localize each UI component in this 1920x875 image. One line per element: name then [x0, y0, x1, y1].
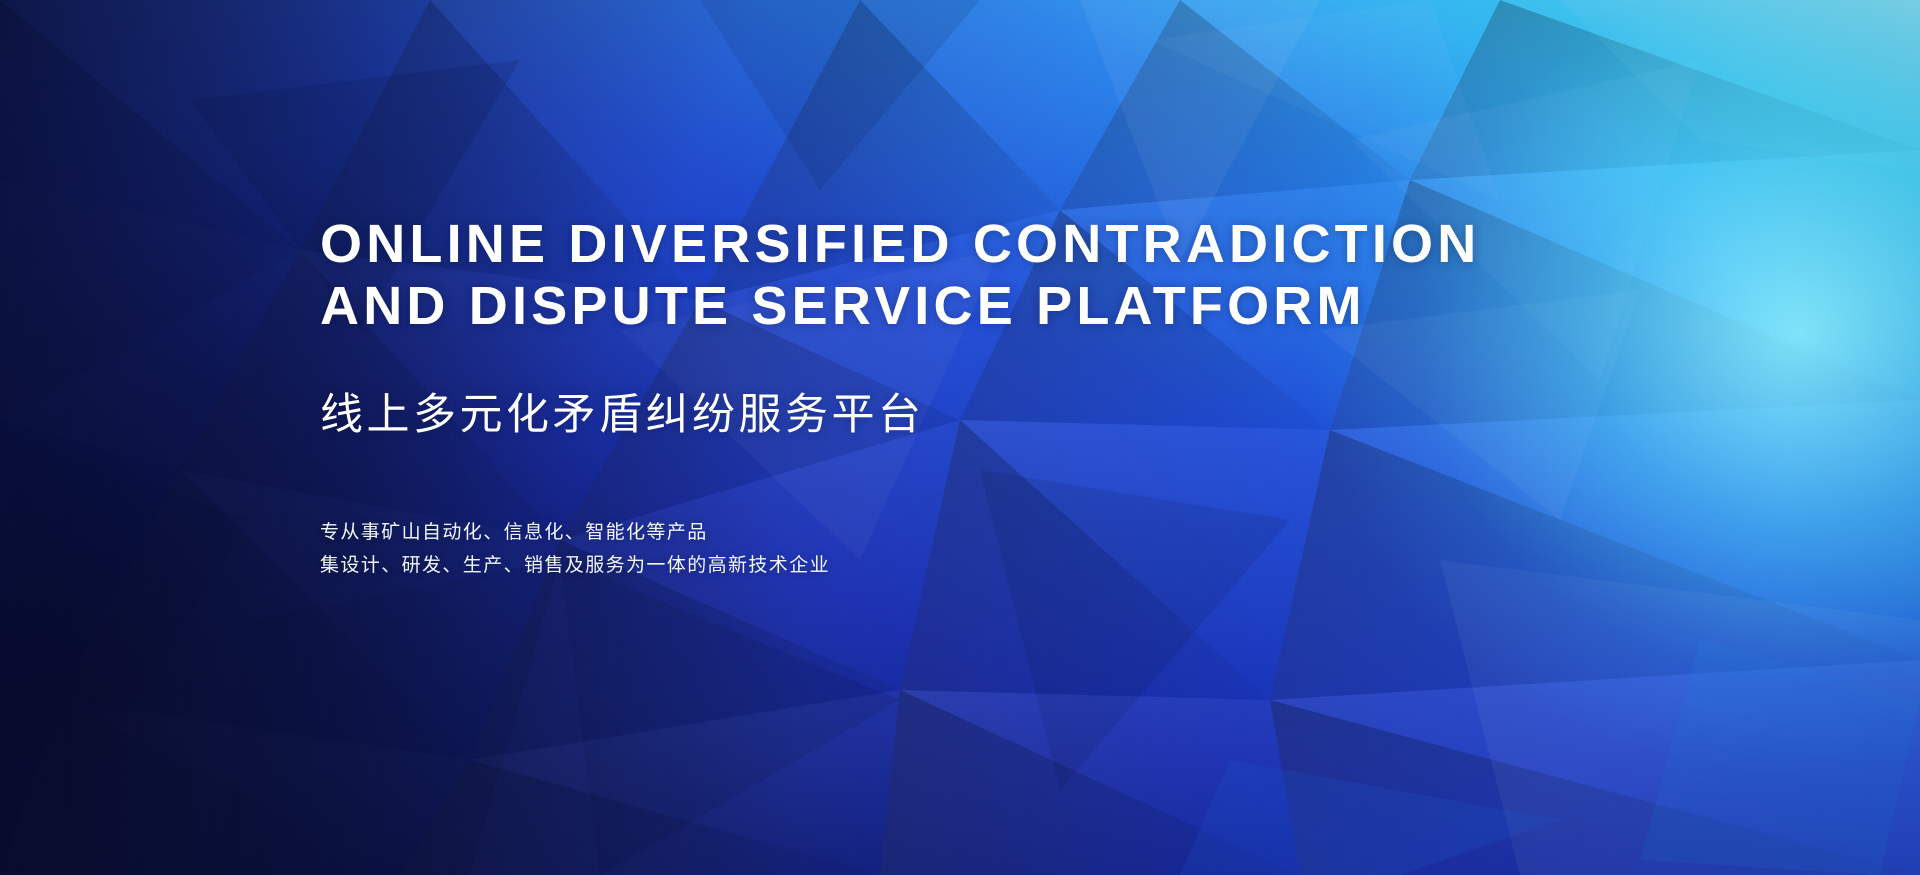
hero-banner: ONLINE DIVERSIFIED CONTRADICTION AND DIS…: [0, 0, 1920, 875]
banner-subtitle-chinese: 线上多元化矛盾纠纷服务平台: [320, 390, 1620, 440]
description-line-1: 专从事矿山自动化、信息化、智能化等产品: [320, 516, 1620, 549]
banner-content: ONLINE DIVERSIFIED CONTRADICTION AND DIS…: [320, 0, 1620, 875]
banner-headline-english: ONLINE DIVERSIFIED CONTRADICTION AND DIS…: [320, 213, 1620, 337]
banner-description: 专从事矿山自动化、信息化、智能化等产品 集设计、研发、生产、销售及服务为一体的高…: [320, 516, 1620, 582]
description-line-2: 集设计、研发、生产、销售及服务为一体的高新技术企业: [320, 549, 1620, 582]
